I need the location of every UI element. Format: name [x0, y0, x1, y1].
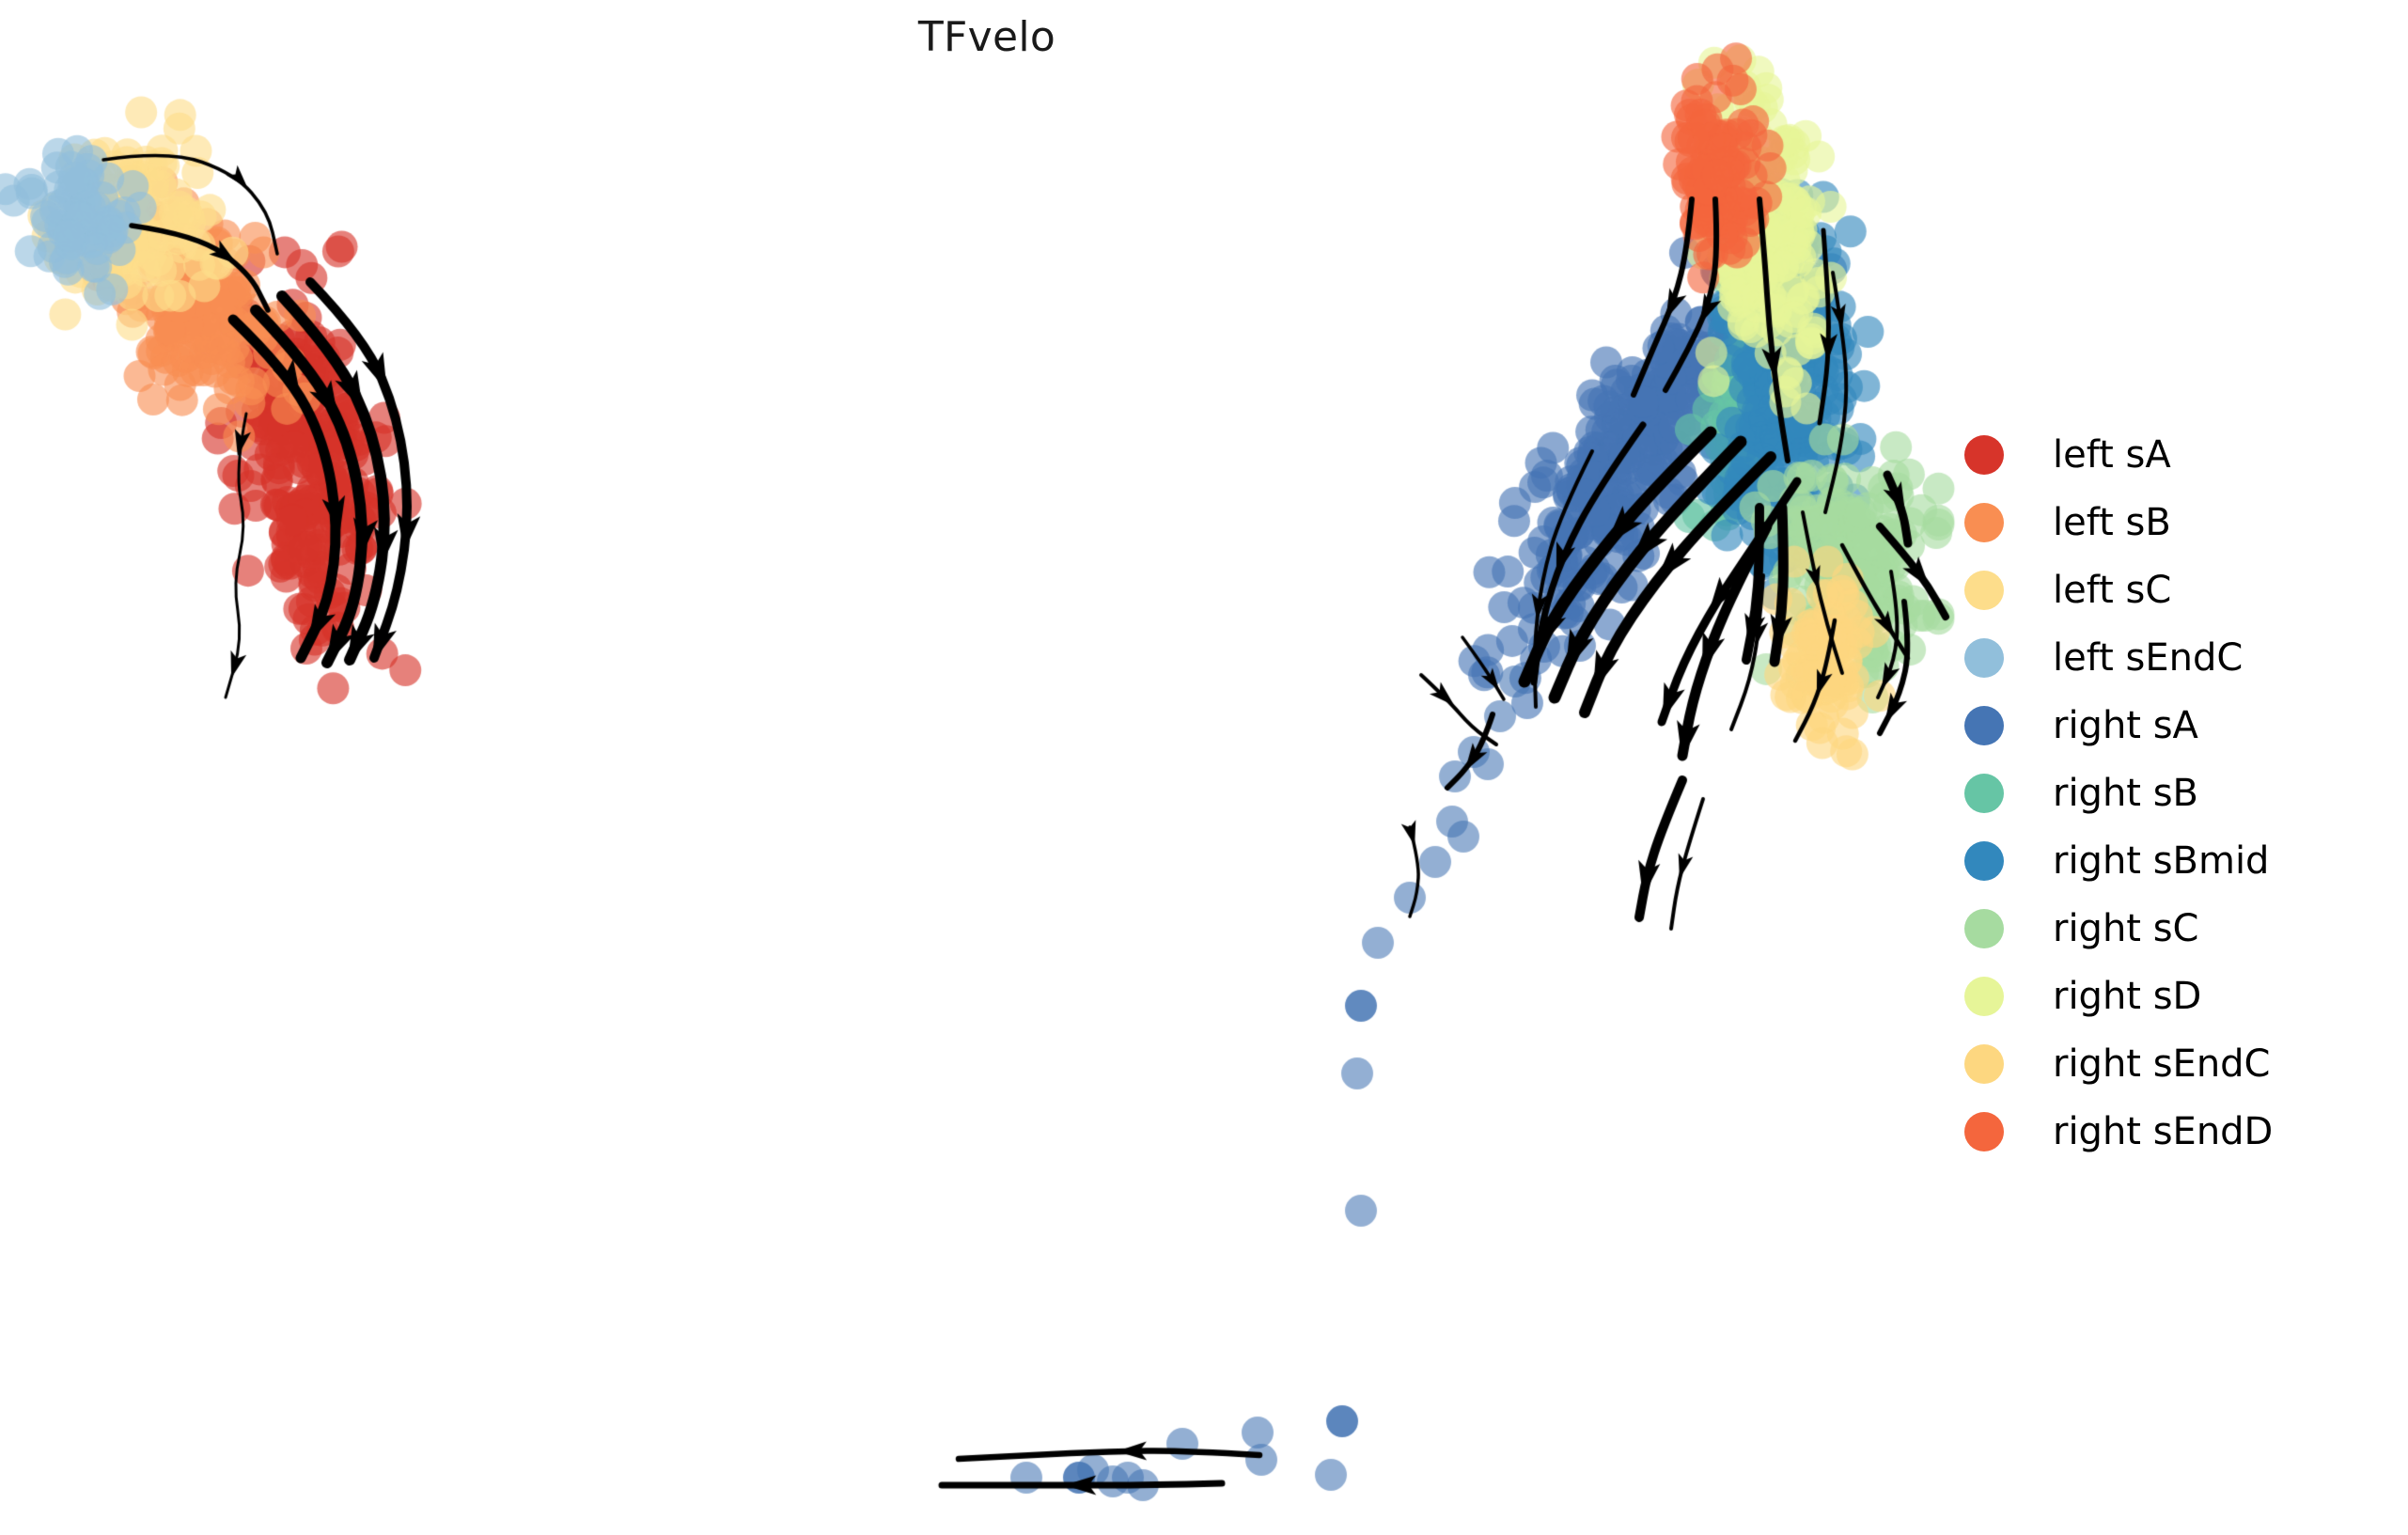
- legend-item[interactable]: left sC: [1964, 556, 2387, 624]
- legend-item[interactable]: right sBmid: [1964, 827, 2387, 895]
- legend-item-label: left sC: [2053, 572, 2171, 609]
- legend-item[interactable]: right sA: [1964, 692, 2387, 760]
- legend-item[interactable]: right sEndD: [1964, 1098, 2387, 1166]
- legend-color-swatch-icon: [1964, 706, 2004, 745]
- legend-item[interactable]: right sEndC: [1964, 1030, 2387, 1098]
- velocity-stream-figure: TFvelo left sAleft sBleft sCleft sEndCri…: [0, 0, 2408, 1535]
- legend-item[interactable]: left sA: [1964, 421, 2387, 489]
- legend-item-label: left sA: [2053, 436, 2171, 474]
- legend-color-swatch-icon: [1964, 841, 2004, 881]
- legend-item[interactable]: right sB: [1964, 760, 2387, 827]
- legend-item-label: right sA: [2053, 707, 2198, 744]
- legend-item-label: right sEndD: [2053, 1113, 2273, 1151]
- legend-item-label: right sB: [2053, 775, 2198, 812]
- legend-item-label: right sC: [2053, 910, 2198, 948]
- legend-color-swatch-icon: [1964, 638, 2004, 678]
- legend-color-swatch-icon: [1964, 1044, 2004, 1084]
- legend-item-label: left sEndC: [2053, 639, 2243, 677]
- legend-item-label: right sEndC: [2053, 1045, 2270, 1083]
- legend: left sAleft sBleft sCleft sEndCright sAr…: [1964, 421, 2387, 1166]
- legend-item[interactable]: right sC: [1964, 895, 2387, 963]
- legend-item-label: right sBmid: [2053, 842, 2269, 880]
- legend-item-label: right sD: [2053, 978, 2201, 1015]
- legend-item-label: left sB: [2053, 504, 2171, 541]
- legend-item[interactable]: left sB: [1964, 489, 2387, 556]
- legend-item[interactable]: left sEndC: [1964, 624, 2387, 692]
- legend-color-swatch-icon: [1964, 774, 2004, 813]
- legend-color-swatch-icon: [1964, 435, 2004, 475]
- legend-item[interactable]: right sD: [1964, 963, 2387, 1030]
- legend-color-swatch-icon: [1964, 503, 2004, 542]
- legend-color-swatch-icon: [1964, 1112, 2004, 1151]
- legend-color-swatch-icon: [1964, 909, 2004, 948]
- legend-color-swatch-icon: [1964, 977, 2004, 1016]
- legend-color-swatch-icon: [1964, 571, 2004, 610]
